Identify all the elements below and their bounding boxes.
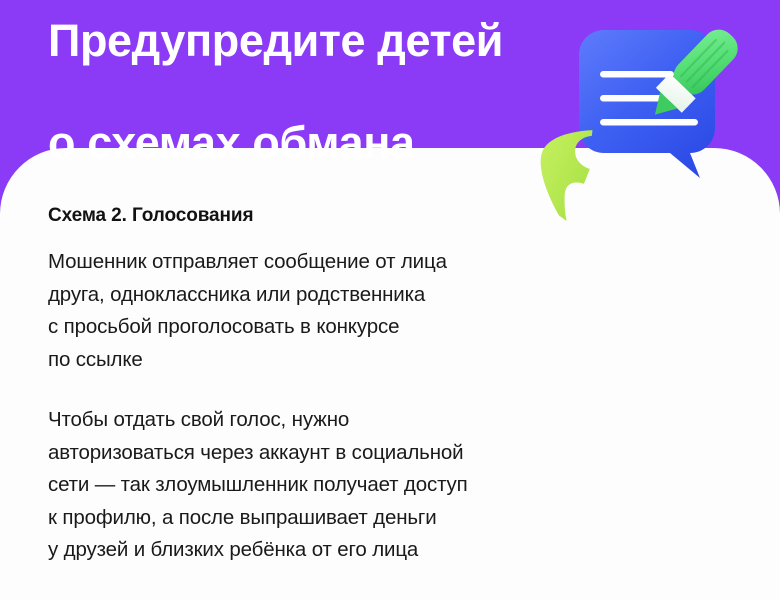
content-card-body: Схема 2. Голосования Мошенник отправляет… [48,203,648,567]
scheme-paragraph-1: Мошенник отправляет сообщение от лица др… [48,246,648,376]
page-title: Предупредите детей о схемах обмана [48,0,568,219]
page-title-line-1: Предупредите детей [48,15,568,66]
page-title-line-2: о схемах обмана [48,117,568,168]
scheme-paragraph-2: Чтобы отдать свой голос, нужно авторизов… [48,404,648,567]
slide-root: Предупредите детей о схемах обмана Схема… [0,0,780,600]
